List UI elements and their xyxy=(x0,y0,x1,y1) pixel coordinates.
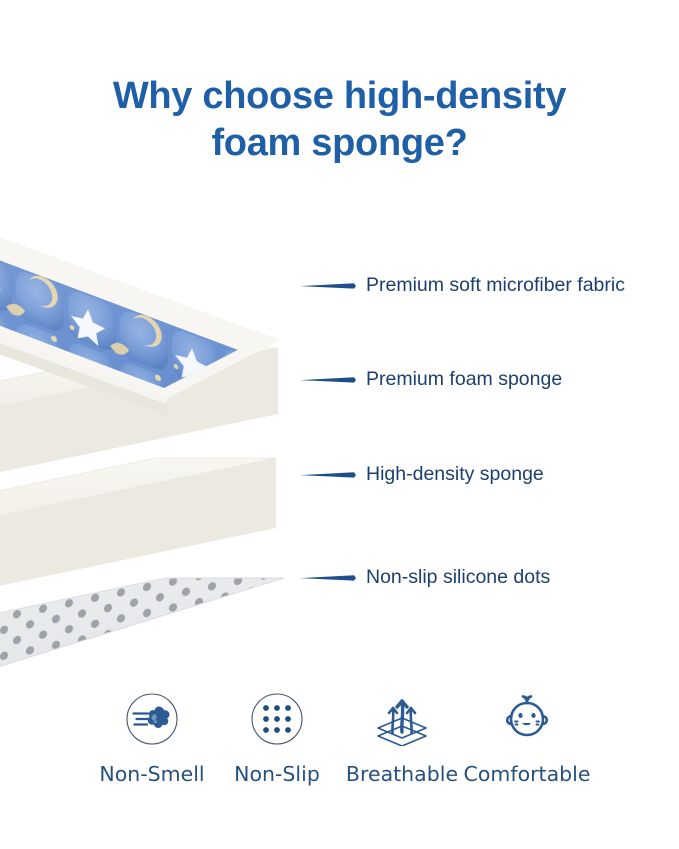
leader-line-icon xyxy=(300,574,356,582)
feature-breathable: Breathable xyxy=(340,690,465,785)
callout-high-density-sponge: High-density sponge xyxy=(300,460,544,490)
baby-face-icon xyxy=(498,690,556,748)
feature-label: Non-Smell xyxy=(99,764,204,785)
feature-label: Breathable xyxy=(346,764,458,785)
callout-label: High-density sponge xyxy=(366,465,544,485)
leader-line-icon xyxy=(300,471,356,479)
callout-label: Premium foam sponge xyxy=(366,370,562,390)
mattress-exploded-illustration xyxy=(0,140,324,700)
callout-premium-foam: Premium foam sponge xyxy=(300,365,562,395)
feature-label: Comfortable xyxy=(464,764,591,785)
feature-row: Non-Smell Non-Slip xyxy=(0,690,679,785)
callout-label: Premium soft microfiber fabric xyxy=(366,276,625,296)
callout-microfiber-fabric: Premium soft microfiber fabric xyxy=(300,271,625,301)
feature-non-slip: Non-Slip xyxy=(215,690,340,785)
dot-grid-circle-icon xyxy=(248,690,306,748)
callout-silicone-dots: Non-slip silicone dots xyxy=(300,563,550,593)
feature-comfortable: Comfortable xyxy=(465,690,590,785)
leader-line-icon xyxy=(300,282,356,290)
leader-line-icon xyxy=(300,376,356,384)
feature-label: Non-Slip xyxy=(234,764,320,785)
callout-label: Non-slip silicone dots xyxy=(366,568,550,588)
airflow-layers-icon xyxy=(373,690,431,748)
feature-non-smell: Non-Smell xyxy=(90,690,215,785)
odor-cloud-icon xyxy=(123,690,181,748)
